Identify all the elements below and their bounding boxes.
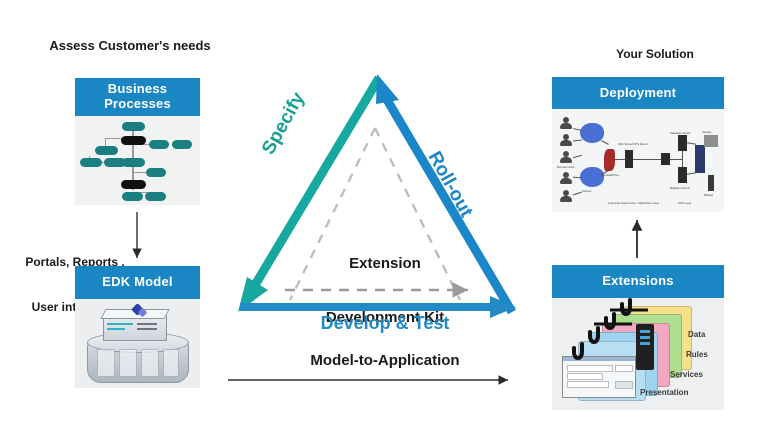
deployment-diagram: Remote Users Internet Firewall/Proxy Web… <box>552 109 724 212</box>
deployment-panel: Deployment <box>552 77 724 212</box>
deployment-title: Deployment <box>600 86 676 101</box>
edk-model-title: EDK Model <box>102 275 172 290</box>
specify-label: Specify <box>258 89 310 159</box>
extension-layer-label-presentation: Presentation <box>640 388 688 397</box>
rollout-label: Roll-out <box>423 148 477 221</box>
deployment-header: Deployment <box>552 77 724 109</box>
edk-title-line1: Extension <box>300 255 470 273</box>
extensions-title: Extensions <box>602 274 673 289</box>
business-processes-panel: Business Processes <box>75 78 200 205</box>
edk-model-image <box>75 299 200 388</box>
business-processes-header: Business Processes <box>75 78 200 116</box>
extensions-panel: Extensions <box>552 265 724 410</box>
business-processes-title-line1: Business <box>108 82 167 97</box>
extensions-app-window <box>562 356 636 398</box>
your-solution-caption: Your Solution <box>560 47 750 61</box>
business-processes-title-line2: Processes <box>104 97 171 112</box>
extensions-header: Extensions <box>552 265 724 298</box>
extensions-image: Data Rules Services Presentation <box>552 298 724 410</box>
extension-layer-label-rules: Rules <box>686 350 708 359</box>
diagram-canvas: Assess Customer's needs Business Process… <box>0 0 760 428</box>
business-processes-diagram <box>75 116 200 205</box>
model-to-application-label: Model-to-Application <box>270 352 500 369</box>
edk-model-header: EDK Model <box>75 266 200 299</box>
edk-model-panel: EDK Model <box>75 266 200 388</box>
extension-development-kit-title: Extension Development Kit <box>300 218 470 364</box>
extension-layer-label-data: Data <box>688 330 705 339</box>
develop-and-test-label: Develop & Test <box>285 313 485 334</box>
assess-customer-needs-caption: Assess Customer's needs <box>20 38 240 53</box>
extension-layer-label-services: Services <box>670 370 703 379</box>
